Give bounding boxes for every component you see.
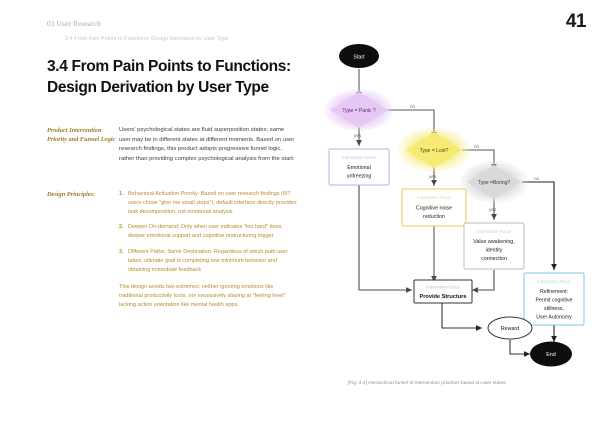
principles-side-label: Design Principles: (47, 190, 119, 310)
node-decision-boring: Type =Boring? (460, 161, 528, 203)
node-cognitive-noise-reduction: Intervention Focus Cognitive noise reduc… (402, 189, 466, 226)
node-value-line2: identity (486, 248, 503, 254)
flowchart-figure: no yes no yes no yes Start Type = Panic … (322, 42, 590, 382)
node-decision-panic: Type = Panic ? (325, 89, 393, 131)
edge-label-no: no (410, 104, 416, 109)
edge-label-no: no (534, 176, 540, 181)
intervention-body: Users' psychological states are fluid su… (119, 126, 297, 164)
edge-label-yes: yes (354, 133, 362, 138)
node-start-label: Start (353, 54, 365, 60)
node-emotional-unfreezing: Intervention Focus Emotional unfreezing (329, 149, 389, 185)
intervention-focus-label: Intervention Focus (342, 155, 376, 160)
section-design-principles: Design Principles: Behavioral Activation… (47, 190, 297, 310)
node-cognitive-line2: reduction (423, 214, 445, 220)
node-decision-panic-label: Type = Panic ? (342, 108, 375, 114)
intervention-focus-label: Intervention Focus (537, 279, 571, 284)
node-refinement-line2: Permit cognitive (536, 298, 573, 304)
node-end-label: End (546, 352, 556, 358)
section-subtitle: 3.4 From Pain Points to Functions: Desig… (65, 36, 229, 42)
section-intervention: Product Intervention Priority and Funnel… (47, 126, 297, 164)
node-value-awakening: Intervention Focus Value awakening, iden… (464, 223, 524, 269)
intervention-focus-label: Intervention Focus (477, 229, 511, 234)
node-decision-lost-label: Type = Lost? (420, 148, 449, 154)
node-refinement-line4: User Autonomy (536, 315, 572, 321)
list-item: Behavioral Activation Priority: Based on… (119, 190, 297, 216)
node-value-line3: connection (481, 256, 507, 262)
intervention-side-label: Product Intervention Priority and Funnel… (47, 126, 119, 164)
principles-list: Behavioral Activation Priority: Based on… (119, 190, 297, 274)
figure-caption: [Fig. 3.4] Hierarchical funnel of interv… (348, 380, 506, 385)
node-start: Start (339, 44, 379, 68)
node-emotional-line2: unfreezing (347, 174, 372, 180)
page-number: 41 (566, 11, 586, 33)
node-refinement: Intervention Focus Refinement: Permit co… (524, 273, 584, 325)
node-provide-structure: Intervention Focus Provide Structure (414, 280, 472, 303)
intervention-focus-label: Intervention Focus (426, 285, 460, 290)
node-refinement-line3: stillness, (544, 306, 564, 312)
node-emotional-line1: Emotional (347, 165, 371, 171)
list-item: Deepen On-demand: Only when user indicat… (119, 223, 297, 241)
node-end: End (530, 342, 572, 367)
principles-closing-note: This design avoids two extremes: neither… (119, 283, 297, 310)
edge-label-yes: yes (489, 207, 497, 212)
node-provide-structure-label: Provide Structure (420, 294, 467, 300)
node-decision-lost: Type = Lost? (398, 128, 470, 172)
node-refinement-line1: Refinement: (540, 289, 568, 295)
edge-label-yes: yes (429, 174, 437, 179)
node-decision-boring-label: Type =Boring? (478, 180, 511, 186)
list-item: Different Paths, Same Destination: Regar… (119, 248, 297, 274)
node-cognitive-line1: Cognitive noise (416, 206, 452, 212)
node-value-line1: Value awakening, (473, 239, 514, 245)
document-page: 03 User Research 3.4 From Pain Points to… (0, 0, 600, 424)
chapter-label: 03 User Research (47, 20, 101, 28)
node-reward-label: Reward (501, 326, 519, 332)
intervention-focus-label: Intervention Focus (417, 195, 451, 200)
node-reward: Reward (488, 317, 532, 339)
page-title: 3.4 From Pain Points to Functions: Desig… (47, 57, 305, 99)
edge-label-no: no (474, 144, 480, 149)
